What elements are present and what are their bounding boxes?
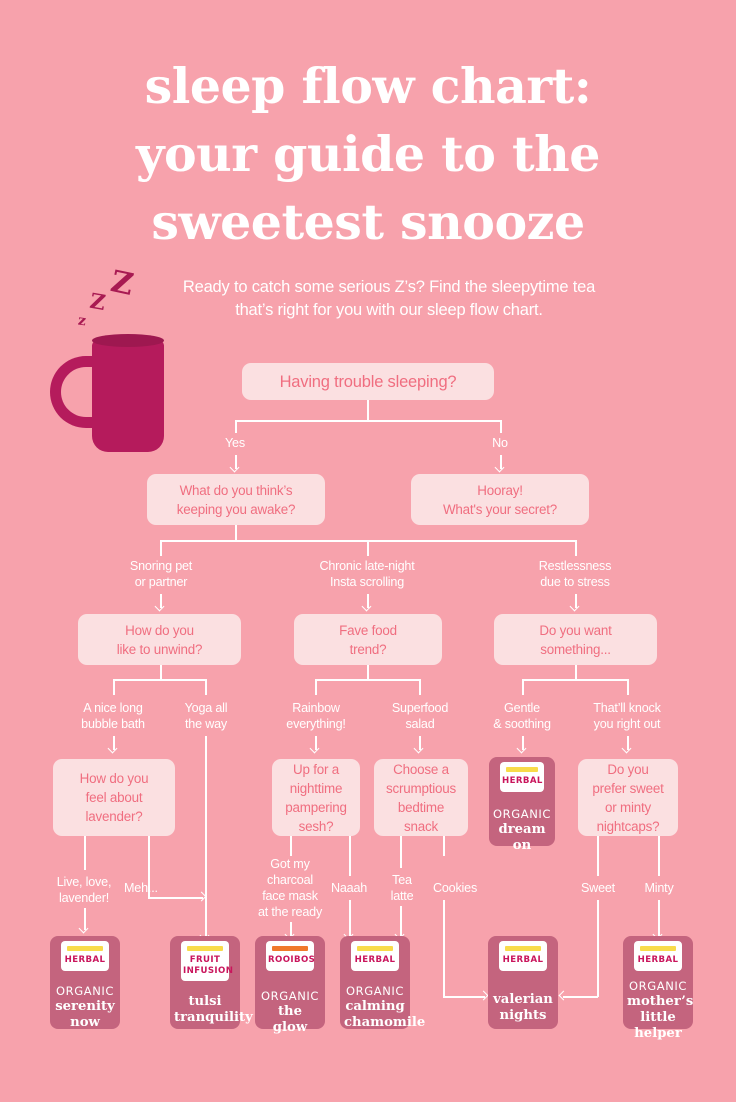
- tea-box-calming-chamomile[interactable]: HERBAL ORGANIC calming chamomile: [340, 936, 410, 1029]
- tea-kind: HERBAL: [636, 955, 680, 966]
- question-box-fave-food-trend[interactable]: Fave food trend?: [294, 614, 442, 665]
- connector-root-split: [235, 420, 501, 422]
- tea-stripe: [67, 946, 103, 951]
- mug-body: [92, 340, 164, 452]
- edge-label-yoga: Yoga all the way: [167, 700, 245, 732]
- tea-body: tulsi tranquility: [174, 994, 236, 1026]
- arrow-down-icon-superfood: [415, 745, 424, 754]
- question-text: Having trouble sleeping?: [280, 371, 457, 393]
- arrow-down-icon-snoring: [156, 603, 165, 612]
- tea-label-header: FRUIT INFUSION: [181, 941, 229, 981]
- question-box-nighttime-pampering[interactable]: Up for a nighttime pampering sesh?: [272, 759, 360, 836]
- question-box-feel-about-lavender[interactable]: How do you feel about lavender?: [53, 759, 175, 836]
- question-line-1: What do you think’s: [180, 483, 293, 498]
- tea-body: ORGANIC dream on: [493, 807, 551, 854]
- tea-stripe: [272, 946, 308, 951]
- question-box-sweet-or-minty[interactable]: Do you prefer sweet or minty nightcaps?: [578, 759, 678, 836]
- tea-organic: ORGANIC: [344, 984, 406, 999]
- connector-unwind-stem: [160, 665, 162, 680]
- edge-label-no: No: [470, 435, 530, 451]
- edge-label-cookies: Cookies: [424, 880, 486, 896]
- edge-label-yes: Yes: [205, 435, 265, 451]
- edge-label-charcoal-mask: Got my charcoal face mask at the ready: [248, 856, 332, 920]
- edge-label-superfood: Superfood salad: [375, 700, 465, 732]
- z-medium: Z: [88, 288, 107, 315]
- tea-body: ORGANIC mother’s little helper: [627, 979, 689, 1042]
- page-subtitle: Ready to catch some serious Z’s? Find th…: [168, 276, 610, 322]
- infographic-canvas: sleep flow chart: your guide to the swee…: [0, 0, 736, 1102]
- edge-label-bubble-bath: A nice long bubble bath: [63, 700, 163, 732]
- arrow-down-icon-yes: [231, 464, 240, 473]
- sleep-zzz-icon: Z Z z: [76, 268, 156, 338]
- connector-lavender-left: [84, 836, 86, 870]
- tea-label-header: ROOIBOS: [266, 941, 314, 971]
- connector-unwind-split: [113, 679, 206, 681]
- connector-unwind-right: [205, 679, 207, 695]
- title-line-3: sweetest snooze: [0, 188, 736, 256]
- edge-label-live-love-lavender: Live, love, lavender!: [34, 874, 134, 906]
- tea-kind: ROOIBOS: [268, 955, 312, 966]
- tea-kind: HERBAL: [353, 955, 397, 966]
- tea-box-the-glow[interactable]: ROOIBOS ORGANIC the glow: [255, 936, 325, 1029]
- tea-kind: HERBAL: [502, 776, 542, 787]
- tea-organic: ORGANIC: [493, 807, 551, 822]
- connector-snack-right: [443, 836, 445, 856]
- tea-body: ORGANIC the glow: [259, 989, 321, 1036]
- edge-label-meh: Meh...: [124, 880, 176, 896]
- tea-label-header: HERBAL: [61, 941, 109, 971]
- edge-label-knock-you-out: That’ll knock you right out: [575, 700, 679, 732]
- mug-illustration: Z Z z: [28, 268, 188, 458]
- tea-stripe: [357, 946, 393, 951]
- arrow-down-icon-rainbow: [311, 745, 320, 754]
- question-line-1: Hooray!: [477, 483, 523, 498]
- edge-label-minty: Minty: [632, 880, 686, 896]
- tea-organic: ORGANIC: [627, 979, 689, 994]
- connector-branch-snoring: [160, 540, 162, 556]
- question-box-hooray-secret[interactable]: Hooray! What's your secret?: [411, 474, 589, 525]
- tea-name: serenity now: [54, 999, 116, 1031]
- tea-organic: ORGANIC: [54, 984, 116, 999]
- question-box-bedtime-snack[interactable]: Choose a scrumptious bedtime snack: [374, 759, 468, 836]
- tea-organic: ORGANIC: [259, 989, 321, 1004]
- tea-stripe: [506, 767, 538, 772]
- connector-food-stem: [367, 665, 369, 680]
- connector-unwind-left: [113, 679, 115, 695]
- tea-box-serenity-now[interactable]: HERBAL ORGANIC serenity now: [50, 936, 120, 1029]
- connector-minty-line: [658, 836, 660, 876]
- tea-kind: HERBAL: [63, 955, 107, 966]
- tea-body: valerian nights: [492, 992, 554, 1024]
- edge-label-gentle-soothing: Gentle & soothing: [478, 700, 566, 732]
- edge-label-insta-scrolling: Chronic late-night Insta scrolling: [300, 558, 434, 590]
- connector-food-split: [315, 679, 420, 681]
- arrow-down-icon-restless: [571, 603, 580, 612]
- connector-yes-drop: [235, 420, 237, 433]
- tea-box-dream-on[interactable]: HERBAL ORGANIC dream on: [489, 757, 555, 846]
- z-small: z: [77, 313, 87, 330]
- question-line-2: keeping you awake?: [177, 502, 296, 517]
- connector-branch-insta: [367, 540, 369, 556]
- tea-name: dream on: [493, 822, 551, 854]
- question-box-keeping-you-awake[interactable]: What do you think’s keeping you awake?: [147, 474, 325, 525]
- connector-sweet-down: [597, 900, 599, 997]
- title-line-1: sleep flow chart:: [0, 52, 736, 120]
- connector-food-left: [315, 679, 317, 695]
- question-box-how-unwind[interactable]: How do you like to unwind?: [78, 614, 241, 665]
- connector-meh-right: [148, 897, 203, 899]
- tea-name: valerian nights: [492, 992, 554, 1024]
- arrow-right-icon-meh: [198, 893, 207, 902]
- arrow-left-icon-sweet: [560, 992, 569, 1001]
- tea-stripe: [640, 946, 676, 951]
- edge-label-tea-latte: Tea latte: [378, 872, 426, 904]
- connector-sweet-line: [597, 836, 599, 876]
- page-title: sleep flow chart: your guide to the swee…: [0, 52, 736, 256]
- tea-name: mother’s little helper: [627, 994, 689, 1042]
- connector-want-split: [522, 679, 628, 681]
- connector-want-right: [627, 679, 629, 695]
- tea-label-header: HERBAL: [351, 941, 399, 971]
- connector-awake-stem: [235, 525, 237, 541]
- tea-name: the glow: [259, 1004, 321, 1036]
- title-line-2: your guide to the: [0, 120, 736, 188]
- z-large: Z: [108, 264, 137, 303]
- tea-kind: FRUIT INFUSION: [183, 955, 227, 976]
- tea-kind: HERBAL: [501, 955, 545, 966]
- tea-label-header: HERBAL: [634, 941, 682, 971]
- tea-stripe: [187, 946, 223, 951]
- tea-box-valerian-nights[interactable]: HERBAL valerian nights: [488, 936, 558, 1029]
- connector-yoga-long: [205, 736, 207, 939]
- arrow-down-icon-no: [496, 464, 505, 473]
- connector-pampering-left: [290, 836, 292, 856]
- question-box-do-you-want-something[interactable]: Do you want something...: [494, 614, 657, 665]
- tea-name: calming chamomile: [344, 999, 406, 1031]
- tea-label-header: HERBAL: [500, 762, 544, 792]
- question-box-having-trouble-sleeping[interactable]: Having trouble sleeping?: [242, 363, 494, 400]
- connector-want-left: [522, 679, 524, 695]
- arrow-down-icon-insta: [363, 603, 372, 612]
- arrow-down-icon-lavender: [80, 925, 89, 934]
- connector-branch-restless: [575, 540, 577, 556]
- tea-box-mothers-little-helper[interactable]: HERBAL ORGANIC mother’s little helper: [623, 936, 693, 1029]
- tea-name: tulsi tranquility: [174, 994, 236, 1026]
- tea-body: ORGANIC calming chamomile: [344, 984, 406, 1031]
- connector-want-stem: [575, 665, 577, 680]
- edge-label-restlessness: Restlessness due to stress: [520, 558, 630, 590]
- tea-body: ORGANIC serenity now: [54, 984, 116, 1031]
- arrow-down-icon-bubble: [109, 745, 118, 754]
- edge-label-rainbow: Rainbow everything!: [272, 700, 360, 732]
- tea-stripe: [505, 946, 541, 951]
- tea-box-tulsi-tranquility[interactable]: FRUIT INFUSION tulsi tranquility: [170, 936, 240, 1029]
- connector-no-drop: [500, 420, 502, 433]
- connector-cookies-down: [443, 900, 445, 997]
- edge-label-naaah: Naaah: [322, 880, 376, 896]
- connector-root-stem: [367, 400, 369, 421]
- tea-label-header: HERBAL: [499, 941, 547, 971]
- question-line-2: What's your secret?: [443, 502, 557, 517]
- edge-label-snoring-pet: Snoring pet or partner: [110, 558, 212, 590]
- mug-rim: [92, 334, 164, 347]
- connector-pampering-right: [349, 836, 351, 876]
- edge-label-sweet: Sweet: [570, 880, 626, 896]
- arrow-down-icon-gentle: [518, 745, 527, 754]
- connector-snack-left: [400, 836, 402, 868]
- connector-food-right: [419, 679, 421, 695]
- arrow-down-icon-knock: [623, 745, 632, 754]
